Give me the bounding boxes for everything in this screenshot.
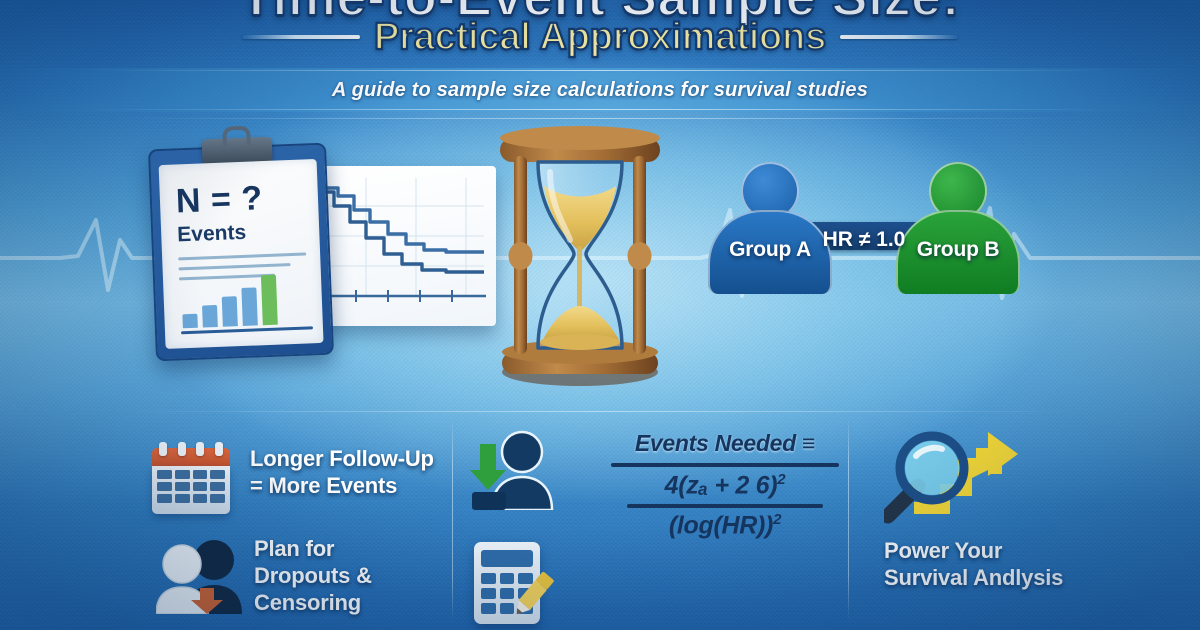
group-comparison: Group A Group B HR ≠ 1.0 — [700, 152, 1020, 302]
calendar-grid — [157, 470, 225, 503]
sample-size-sublabel: Events — [177, 218, 320, 247]
calendar-rings — [159, 442, 223, 456]
pencil-icon — [510, 568, 556, 620]
divider-left — [242, 35, 360, 39]
calculator-screen — [481, 550, 533, 567]
tagline-band: A guide to sample size calculations for … — [0, 68, 1200, 112]
divider-right — [840, 35, 958, 39]
page-subtitle: Practical Approximations — [374, 16, 826, 59]
poster-canvas: Time-to-Event Sample Size: Practical App… — [0, 0, 1200, 630]
clipboard-paper: N = ? Events — [159, 159, 324, 349]
calendar-icon — [152, 442, 230, 514]
followup-line2: = More Events — [250, 473, 434, 500]
hourglass-icon — [470, 120, 690, 390]
mini-bar-chart — [181, 275, 278, 329]
clipboard-icon: N = ? Events — [148, 143, 334, 362]
dropouts-line2: Dropouts & — [254, 563, 372, 590]
formula-numerator-text: 4(zₐ + 2 6) — [665, 471, 778, 499]
sample-size-headline: N = ? — [175, 179, 318, 218]
panel-divider-1 — [452, 418, 453, 620]
formula-header: Events Needed ≡ — [600, 430, 850, 457]
followup-line1: Longer Follow-Up — [250, 446, 434, 473]
illustration-band: N = ? Events — [0, 118, 1200, 410]
person-download-icon — [470, 430, 556, 510]
subtitle-row: Practical Approximations — [0, 14, 1200, 60]
formula-numerator: 4(zₐ + 2 6)2 — [600, 471, 850, 500]
formula-denominator-text: (log(HR)) — [669, 512, 773, 540]
events-formula: Events Needed ≡ 4(zₐ + 2 6)2 (log(HR))2 — [600, 430, 850, 541]
power-line2: Survival Andlysis — [884, 565, 1063, 592]
dropouts-line1: Plan for — [254, 536, 372, 563]
page-tagline: A guide to sample size calculations for … — [332, 79, 868, 102]
people-dropout-icon — [156, 538, 242, 614]
formula-denominator: (log(HR))2 — [600, 511, 850, 540]
poster-header: Time-to-Event Sample Size: Practical App… — [0, 0, 1200, 112]
key-point-power: Power Your Survival Andlysis — [884, 538, 1063, 592]
formula-numerator-exp: 2 — [777, 471, 785, 488]
magnifier-growth-icon — [884, 426, 1034, 526]
hazard-ratio-label: HR ≠ 1.0 — [808, 228, 920, 252]
dropouts-line3: Censoring — [254, 590, 372, 617]
power-line1: Power Your — [884, 538, 1063, 565]
calculator-pencil-icon — [474, 542, 550, 624]
formula-denominator-exp: 2 — [773, 511, 781, 528]
key-point-dropouts: Plan for Dropouts & Censoring — [254, 536, 372, 616]
key-points-panel: Longer Follow-Up = More Events Plan for … — [0, 412, 1200, 630]
formula-rule-top — [611, 463, 839, 467]
formula-rule-bottom — [627, 504, 823, 508]
key-point-followup: Longer Follow-Up = More Events — [250, 446, 434, 500]
band-divider-top — [118, 118, 1082, 119]
